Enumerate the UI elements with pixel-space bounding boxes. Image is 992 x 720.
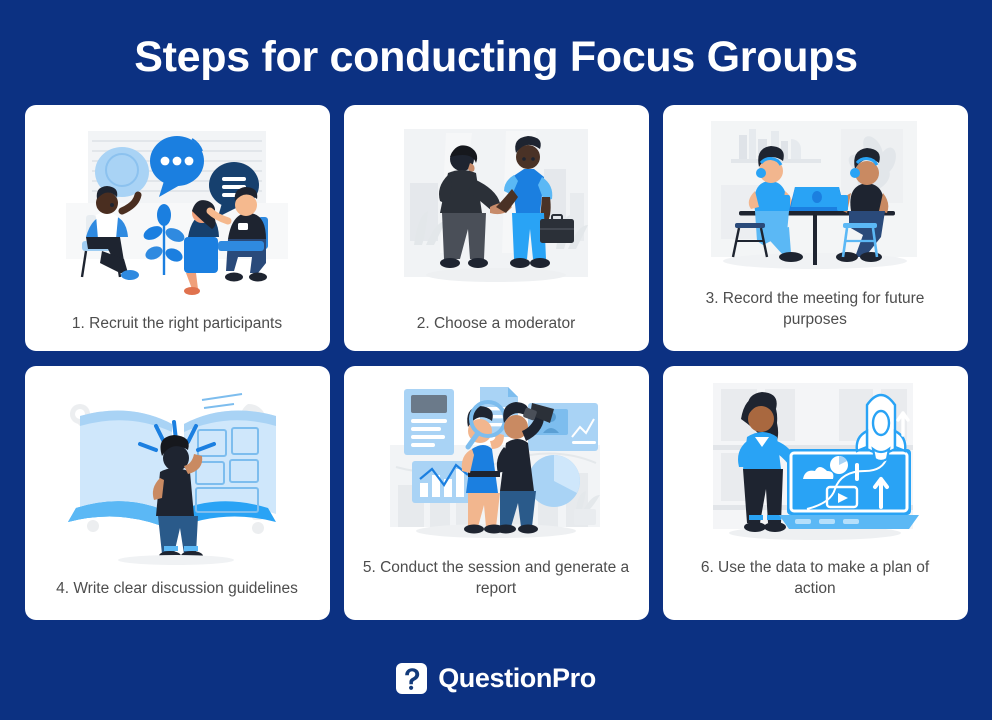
step-1-illustration [25, 105, 330, 314]
laptop-rocket-launch-icon [695, 375, 935, 555]
step-2-caption: 2. Choose a moderator [344, 314, 649, 351]
step-6-illustration [663, 366, 968, 558]
page-title: Steps for conducting Focus Groups [0, 0, 992, 79]
step-3-caption: 3. Record the meeting for future purpose… [663, 289, 968, 351]
step-6-caption: 6. Use the data to make a plan of action [663, 558, 968, 620]
step-card-2[interactable]: 2. Choose a moderator [344, 105, 649, 351]
step-5-caption: 5. Conduct the session and generate a re… [344, 558, 649, 620]
step-card-6[interactable]: 6. Use the data to make a plan of action [663, 366, 968, 620]
brand-name: QuestionPro [438, 663, 596, 694]
step-card-4[interactable]: 4. Write clear discussion guidelines [25, 366, 330, 620]
recording-meeting-icon [695, 115, 935, 285]
open-book-reading-icon [52, 386, 302, 566]
step-card-3[interactable]: 3. Record the meeting for future purpose… [663, 105, 968, 351]
research-report-icon [376, 375, 616, 555]
questionpro-logo-icon [396, 663, 427, 694]
step-card-5[interactable]: 5. Conduct the session and generate a re… [344, 366, 649, 620]
step-card-1[interactable]: 1. Recruit the right participants [25, 105, 330, 351]
step-5-illustration [344, 366, 649, 558]
handshake-icon [386, 123, 606, 303]
step-3-illustration [663, 105, 968, 289]
focus-group-discussion-icon [52, 125, 302, 300]
step-1-caption: 1. Recruit the right participants [25, 314, 330, 351]
brand-footer: QuestionPro [0, 663, 992, 694]
step-2-illustration [344, 105, 649, 314]
step-4-caption: 4. Write clear discussion guidelines [25, 579, 330, 620]
infographic-poster: Steps for conducting Focus Groups [0, 0, 992, 720]
step-4-illustration [25, 366, 330, 579]
steps-grid: 1. Recruit the right participants [0, 105, 992, 620]
question-mark-glyph [401, 667, 423, 691]
